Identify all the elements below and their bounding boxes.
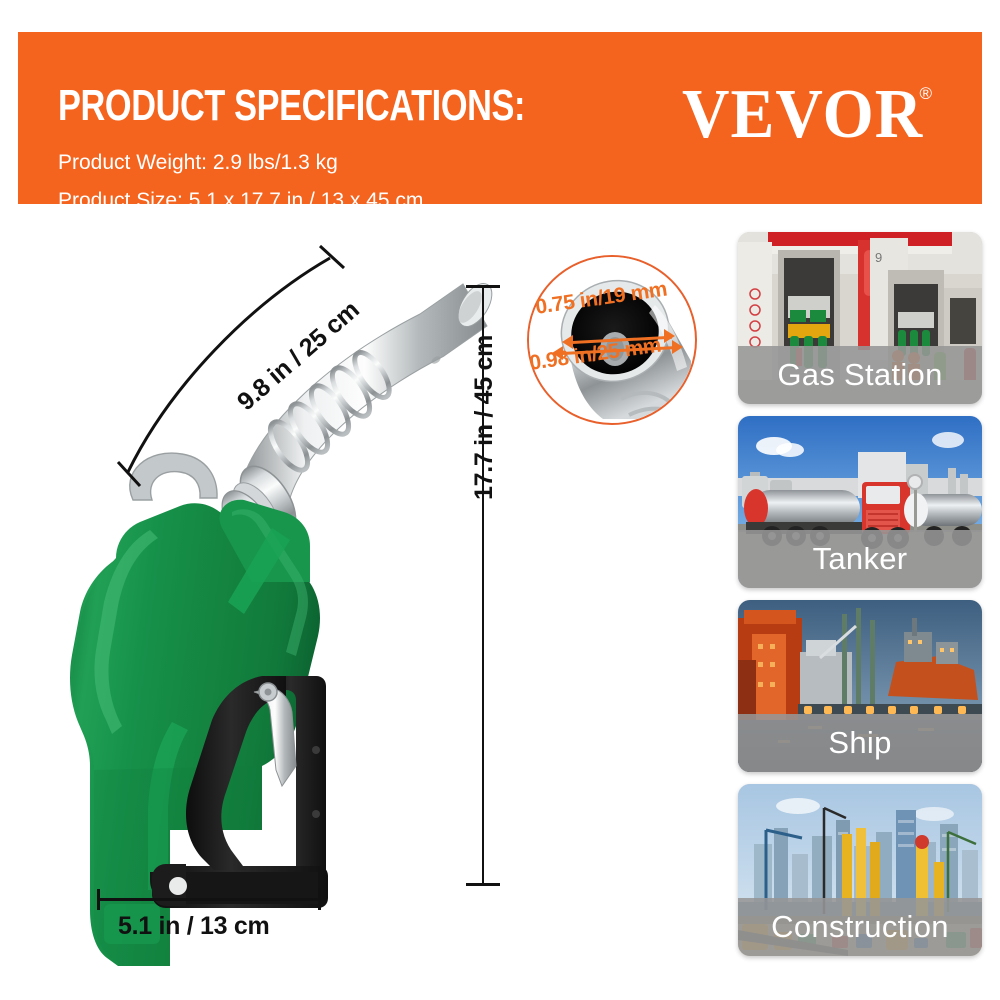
body-width-label: 5.1 in / 13 cm: [118, 912, 269, 941]
height-dimension-cap-top: [466, 285, 500, 288]
header-banner: PRODUCT SPECIFICATIONS: Product Weight: …: [18, 32, 982, 204]
application-card-construction[interactable]: Construction: [738, 784, 982, 956]
application-card-tanker[interactable]: Tanker: [738, 416, 982, 588]
width-dimension-cap-left: [97, 889, 100, 910]
width-dimension-cap-right: [318, 889, 321, 910]
height-dimension-cap-bottom: [466, 883, 500, 886]
total-height-label: 17.7 in / 45 cm: [470, 335, 499, 500]
application-card-list: 9: [738, 232, 982, 968]
product-weight-text: Product Weight: 2.9 lbs/1.3 kg: [58, 152, 338, 173]
application-card-label: Tanker: [738, 530, 982, 588]
width-dimension-line: [98, 898, 320, 901]
application-card-label: Ship: [738, 714, 982, 772]
product-size-text: Product Size: 5.1 x 17.7 in / 13 x 45 cm: [58, 190, 423, 211]
application-card-gas-station[interactable]: 9: [738, 232, 982, 404]
logo-wordmark: VEVOR: [682, 80, 923, 149]
svg-text:9: 9: [875, 250, 882, 265]
product-spec-page: PRODUCT SPECIFICATIONS: Product Weight: …: [0, 0, 1000, 1000]
application-card-label: Gas Station: [738, 346, 982, 404]
page-title: PRODUCT SPECIFICATIONS:: [58, 84, 525, 128]
outer-diameter-arrowhead-right: [672, 340, 683, 354]
application-card-label: Construction: [738, 898, 982, 956]
vevor-logo: VEVOR ®: [682, 80, 932, 142]
application-card-ship[interactable]: Ship: [738, 600, 982, 772]
